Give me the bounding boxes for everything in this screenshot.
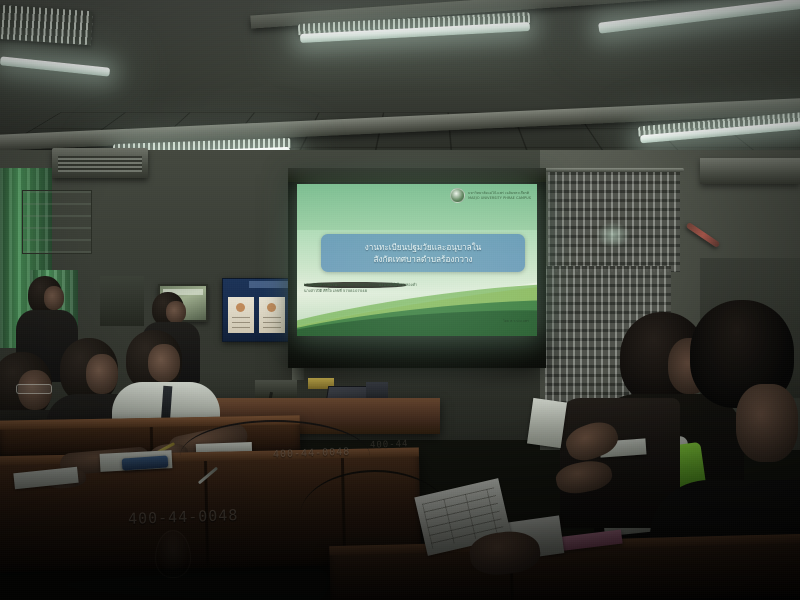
window-left [22, 190, 92, 254]
face [148, 344, 180, 382]
face [166, 301, 186, 323]
certificate-seal-icon [236, 303, 245, 312]
meeting-room-photo: มหาวิทยาลัยแม่โจ้-แพร่ เฉลิมพระเกียรติ M… [0, 0, 800, 600]
screen-roller [288, 168, 546, 182]
slide-university-logo: มหาวิทยาลัยแม่โจ้-แพร่ เฉลิมพระเกียรติ M… [450, 188, 531, 203]
desk-asset-number: 400-44 [370, 439, 409, 450]
certificate-seal-icon [267, 303, 276, 312]
certificate-line [232, 327, 250, 328]
fluorescent-light-left [0, 56, 110, 76]
university-seal-icon [450, 188, 465, 203]
logo-thai-line: มหาวิทยาลัยแม่โจ้-แพร่ เฉลิมพระเกียรติ [468, 191, 531, 195]
slide-logo-text: มหาวิทยาลัยแม่โจ้-แพร่ เฉลิมพระเกียรติ M… [468, 191, 531, 200]
certificate-line [232, 317, 250, 318]
ac-vent-grill [58, 156, 142, 172]
face [736, 384, 798, 462]
certificate-line [263, 327, 281, 328]
slide-footer-text: โดย ส.ว.ป.ม.แพร่ [503, 319, 529, 324]
presentation-slide: มหาวิทยาลัยแม่โจ้-แพร่ เฉลิมพระเกียรติ M… [297, 184, 537, 336]
certificate [228, 297, 254, 333]
notice-board-header [249, 281, 289, 288]
light-fixture-grill-left [0, 5, 93, 46]
fluorescent-light-2 [598, 0, 800, 34]
certificate [259, 297, 285, 333]
air-conditioner-left [52, 148, 148, 178]
face [44, 286, 64, 310]
window-light-right [596, 222, 630, 248]
blue-notice-board [222, 278, 292, 342]
wall-cabinet [100, 276, 144, 326]
slide-wave-graphic [297, 270, 537, 336]
slide-title-line-1: งานทะเบียนปฐมวัยและอนุบาลใน [327, 241, 519, 253]
certificate-line [263, 317, 281, 318]
air-conditioner-right [700, 158, 800, 184]
slide-title-line-2: สังกัดเทศบาลตำบลร้องกวาง [327, 253, 519, 265]
desk-asset-number: 400-44-0048 [128, 506, 239, 528]
logo-english-line: MAEJO UNIVERSITY PHRAE CAMPUS [468, 196, 531, 200]
face [86, 354, 118, 394]
eyeglasses [16, 384, 52, 394]
certificate-line [232, 322, 250, 323]
paper-sheet [527, 398, 567, 448]
projection-screen: มหาวิทยาลัยแม่โจ้-แพร่ เฉลิมพระเกียรติ M… [288, 168, 546, 368]
certificate-line [263, 322, 281, 323]
slide-title-box: งานทะเบียนปฐมวัยและอนุบาลใน สังกัดเทศบาล… [321, 234, 525, 272]
